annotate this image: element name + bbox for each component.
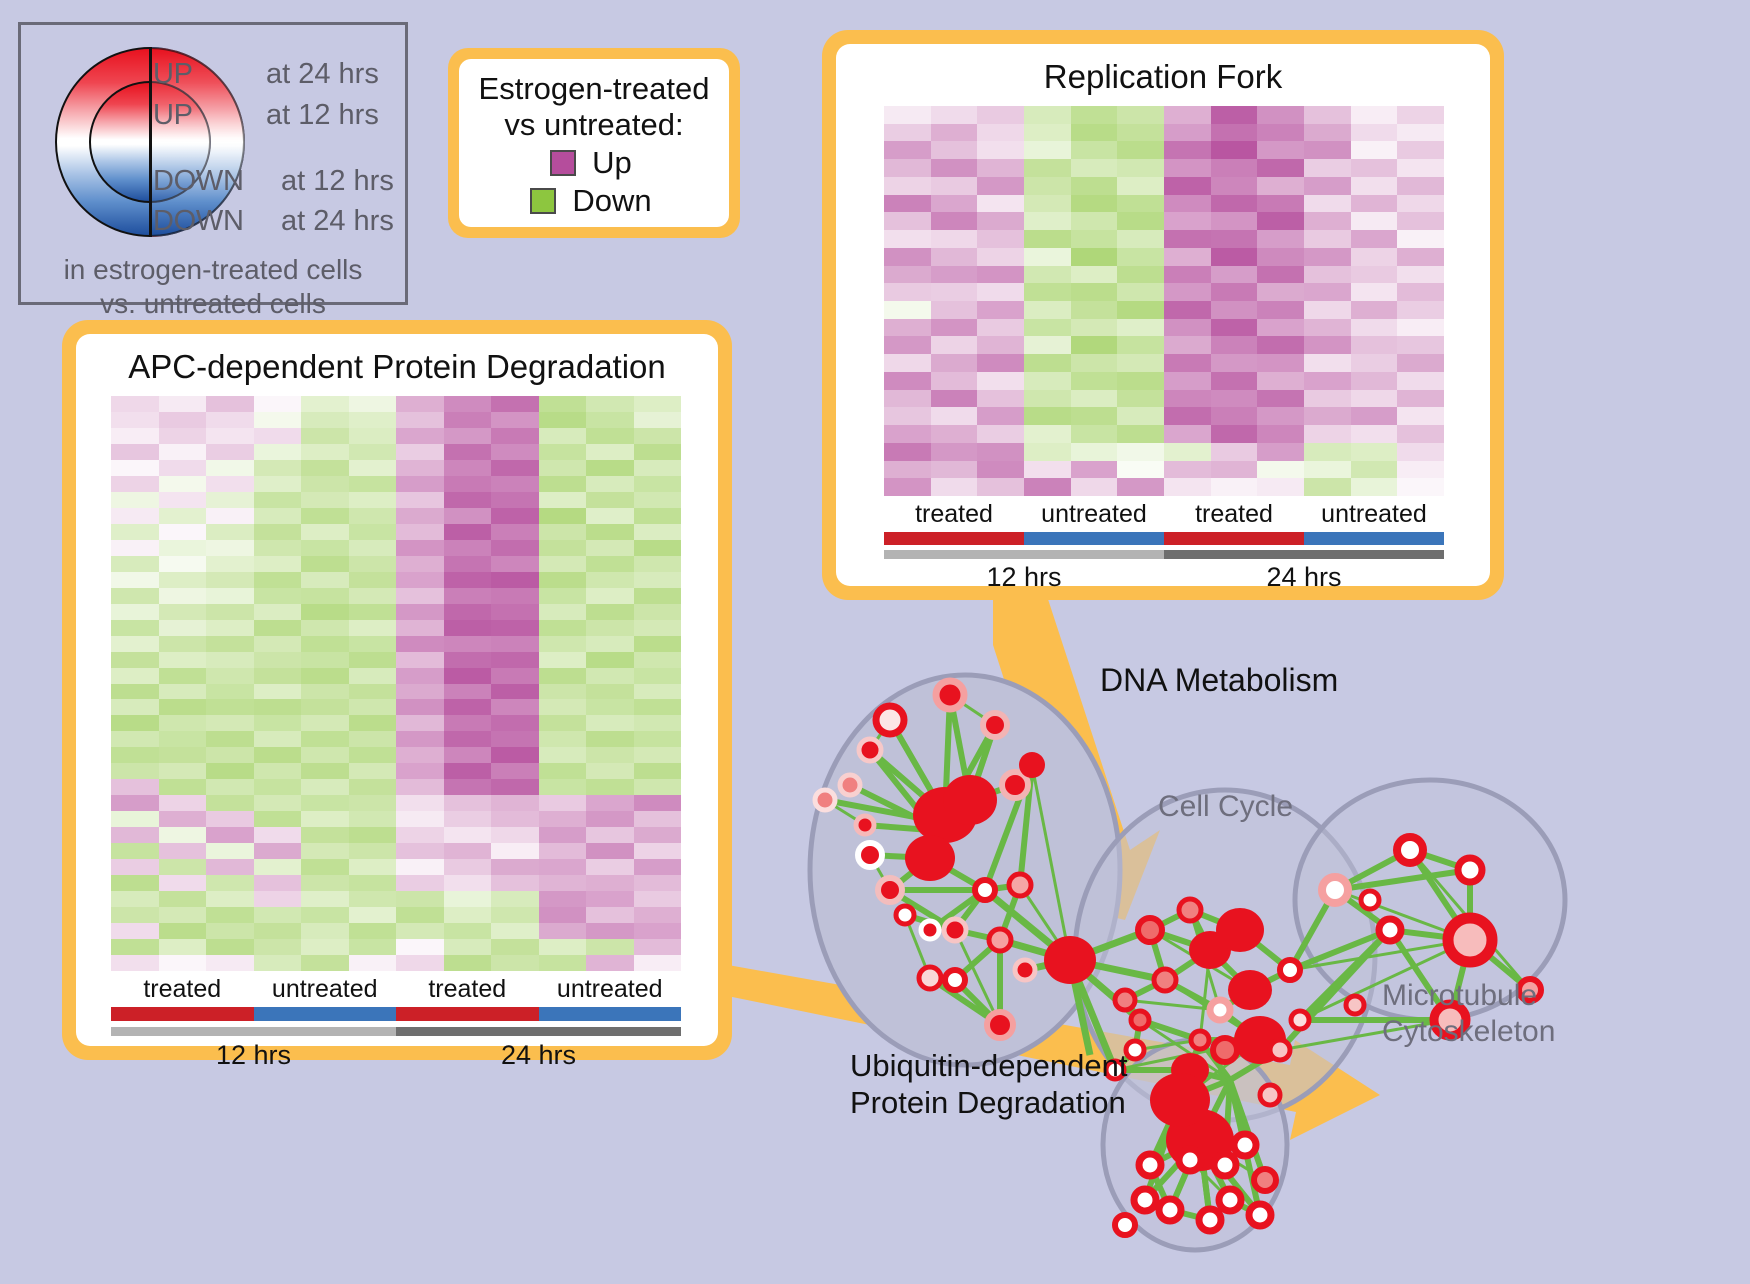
heatmap-cell — [977, 336, 1024, 354]
heatmap-cell — [254, 572, 302, 588]
heatmap-cell — [349, 827, 397, 843]
heatmap-cell — [1117, 230, 1164, 248]
heatmap-cell — [396, 556, 444, 572]
heatmap-cell — [1351, 461, 1398, 479]
heatmap-cell — [206, 715, 254, 731]
heatmap-cell — [111, 715, 159, 731]
heatmap-cell — [1304, 336, 1351, 354]
heatmap-cell — [491, 891, 539, 907]
heatmap-cell — [491, 684, 539, 700]
heatmap-cell — [111, 779, 159, 795]
heatmap-cell — [634, 604, 682, 620]
heatmap-cell — [977, 266, 1024, 284]
heatmap-cell — [1164, 283, 1211, 301]
heatmap-cell — [301, 891, 349, 907]
heatmap-cell — [539, 779, 587, 795]
heatmap-cell — [159, 923, 207, 939]
heatmap-cell — [931, 266, 978, 284]
heatmap-cell — [539, 731, 587, 747]
heatmap-cell — [1351, 248, 1398, 266]
heatmap-cell — [301, 540, 349, 556]
time-label: 24 hrs — [396, 1040, 681, 1071]
heatmap-cell — [111, 795, 159, 811]
heatmap-cell — [586, 412, 634, 428]
heatmap-cell — [491, 907, 539, 923]
heatmap-cell — [1117, 443, 1164, 461]
heatmap-cell — [634, 556, 682, 572]
heatmap-cell — [444, 636, 492, 652]
time-bars-replication-fork — [884, 550, 1444, 559]
heatmap-cell — [301, 907, 349, 923]
heatmap-cell — [254, 652, 302, 668]
heatmap-cell — [977, 230, 1024, 248]
heatmap-cell — [586, 795, 634, 811]
heatmap-cell — [1351, 372, 1398, 390]
heatmap-cell — [491, 939, 539, 955]
heatmap-cell — [1397, 266, 1444, 284]
heatmap-cell — [396, 715, 444, 731]
heatmap-cell — [349, 843, 397, 859]
heatmap-cell — [111, 524, 159, 540]
heatmap-cell — [159, 747, 207, 763]
heatmap-cell — [254, 684, 302, 700]
heatmap-cell — [111, 875, 159, 891]
legend-item-down: Down — [530, 183, 651, 219]
heatmap-cell — [206, 699, 254, 715]
heatmap-cell — [301, 396, 349, 412]
down-colour-swatch — [530, 188, 556, 214]
time-label: 12 hrs — [111, 1040, 396, 1071]
heatmap-cell — [931, 248, 978, 266]
heatmap-cell — [444, 939, 492, 955]
heatmap-cell — [396, 652, 444, 668]
heatmap-cell — [254, 891, 302, 907]
heatmap-cell — [206, 588, 254, 604]
heatmap-cell — [586, 588, 634, 604]
heatmap-cell — [539, 620, 587, 636]
heatmap-cell — [634, 907, 682, 923]
heatmap-cell — [1164, 407, 1211, 425]
group-label: treated — [884, 500, 1024, 529]
heatmap-cell — [1071, 230, 1118, 248]
heatmap-cell — [254, 811, 302, 827]
heatmap-cell — [1024, 177, 1071, 195]
heatmap-cell — [444, 955, 492, 971]
heatmap-cell — [586, 699, 634, 715]
heatmap-cell — [1304, 443, 1351, 461]
heatmap-cell — [206, 763, 254, 779]
heatmap-cell — [539, 811, 587, 827]
heatmap-cell — [254, 492, 302, 508]
heatmap-cell — [206, 460, 254, 476]
heatmap-cell — [977, 212, 1024, 230]
heatmap-cell — [1257, 124, 1304, 142]
heatmap-cell — [349, 715, 397, 731]
heatmap-cell — [396, 699, 444, 715]
heatmap-cell — [539, 652, 587, 668]
heatmap-cell — [206, 524, 254, 540]
heatmap-cell — [1117, 159, 1164, 177]
heatmap-cell — [1211, 177, 1258, 195]
heatmap-cell — [1164, 319, 1211, 337]
heatmap-cell — [977, 425, 1024, 443]
heatmap-cell — [634, 859, 682, 875]
heatmap-cell — [349, 604, 397, 620]
heatmap-cell — [977, 124, 1024, 142]
treatment-bar-segment — [1024, 532, 1164, 545]
heatmap-cell — [977, 354, 1024, 372]
heatmap-cell — [444, 684, 492, 700]
heatmap-cell — [159, 476, 207, 492]
heatmap-cell — [586, 540, 634, 556]
heatmap-cell — [1164, 372, 1211, 390]
heatmap-cell — [931, 443, 978, 461]
heatmap-cell — [586, 396, 634, 412]
heatmap-cell — [159, 811, 207, 827]
updown-legend-card: Estrogen-treated vs untreated: Up Down — [448, 48, 740, 238]
heatmap-cell — [539, 827, 587, 843]
heatmap-cell — [1397, 124, 1444, 142]
heatmap-cell — [1117, 141, 1164, 159]
heatmap-cell — [634, 955, 682, 971]
heatmap-cell — [396, 731, 444, 747]
heatmap-cell — [931, 124, 978, 142]
heatmap-cell — [206, 811, 254, 827]
heatmap-cell — [1117, 248, 1164, 266]
heatmap-cell — [931, 195, 978, 213]
heatmap-cell — [1304, 461, 1351, 479]
legend-label-down: Down — [572, 183, 651, 219]
heatmap-cell — [206, 652, 254, 668]
heatmap-cell — [111, 476, 159, 492]
heatmap-cell — [491, 763, 539, 779]
heatmap-cell — [159, 428, 207, 444]
heatmap-cell — [539, 412, 587, 428]
heatmap-cell — [206, 636, 254, 652]
heatmap-cell — [884, 266, 931, 284]
heatmap-cell — [1257, 443, 1304, 461]
heatmap-cell — [1164, 124, 1211, 142]
heatmap-cell — [349, 923, 397, 939]
heatmap-cell — [254, 731, 302, 747]
heatmap-cell — [111, 827, 159, 843]
heatmap-cell — [111, 939, 159, 955]
heatmap-cell — [159, 907, 207, 923]
heatmap-cell — [254, 779, 302, 795]
wheel-caption-line2: vs. untreated cells — [21, 287, 405, 321]
heatmap-cell — [491, 811, 539, 827]
heatmap-cell — [444, 923, 492, 939]
heatmap-cell — [1024, 478, 1071, 496]
treatment-bar-segment — [396, 1007, 539, 1021]
heatmap-cell — [1024, 141, 1071, 159]
heatmap-cell — [977, 141, 1024, 159]
heatmap-cell — [634, 508, 682, 524]
heatmap-cell — [491, 747, 539, 763]
time-bar-segment — [1164, 550, 1444, 559]
heatmap-cell — [977, 443, 1024, 461]
heatmap-cell — [254, 843, 302, 859]
heatmap-cell — [301, 779, 349, 795]
heatmap-cell — [1351, 390, 1398, 408]
heatmap-cell — [1397, 248, 1444, 266]
heatmap-cell — [254, 476, 302, 492]
heatmap-cell — [349, 795, 397, 811]
heatmap-cell — [396, 795, 444, 811]
heatmap-cell — [349, 699, 397, 715]
heatmap-cell — [977, 390, 1024, 408]
heatmap-cell — [491, 396, 539, 412]
legend-item-up: Up — [550, 145, 632, 181]
heatmap-cell — [1304, 230, 1351, 248]
heatmap-cell — [1024, 159, 1071, 177]
heatmap-cell — [1164, 478, 1211, 496]
heatmap-cell — [1024, 106, 1071, 124]
heatmap-cell — [539, 508, 587, 524]
heatmap-cell — [301, 460, 349, 476]
heatmap-cell — [1164, 425, 1211, 443]
heatmap-cell — [491, 668, 539, 684]
heatmap-cell — [1351, 319, 1398, 337]
treatment-bars-replication-fork — [884, 532, 1444, 545]
heatmap-cell — [444, 859, 492, 875]
heatmap-cell — [1397, 177, 1444, 195]
heatmap-cell — [159, 524, 207, 540]
heatmap-cell — [634, 715, 682, 731]
heatmap-cell — [254, 556, 302, 572]
heatmap-cell — [444, 396, 492, 412]
heatmap-cell — [539, 460, 587, 476]
heatmap-cell — [1024, 319, 1071, 337]
heatmap-cell — [1397, 372, 1444, 390]
heatmap-cell — [1164, 336, 1211, 354]
heatmap-cell — [396, 620, 444, 636]
heatmap-cell — [884, 372, 931, 390]
heatmap-cell — [349, 492, 397, 508]
heatmap-cell — [301, 715, 349, 731]
heatmap-cell — [491, 636, 539, 652]
heatmap-cell — [301, 604, 349, 620]
heatmap-cell — [159, 668, 207, 684]
heatmap-cell — [491, 955, 539, 971]
heatmap-cell — [1304, 407, 1351, 425]
heatmap-cell — [634, 492, 682, 508]
heatmap-cell — [159, 620, 207, 636]
heatmap-cell — [444, 604, 492, 620]
heatmap-cell — [396, 875, 444, 891]
heatmap-cell — [444, 476, 492, 492]
heatmap-cell — [1024, 425, 1071, 443]
heatmap-cell — [159, 652, 207, 668]
heatmap-cell — [444, 811, 492, 827]
time-bar-segment — [111, 1027, 396, 1036]
heatmap-cell — [586, 524, 634, 540]
heatmap-cell — [301, 652, 349, 668]
heatmap-cell — [1071, 319, 1118, 337]
heatmap-cell — [634, 779, 682, 795]
heatmap-cell — [1071, 478, 1118, 496]
heatmap-cell — [301, 859, 349, 875]
heatmap-cell — [111, 923, 159, 939]
heatmap-cell — [539, 524, 587, 540]
heatmap-cell — [1071, 407, 1118, 425]
heatmap-cell — [491, 652, 539, 668]
cluster-halo-dna-metabolism — [810, 675, 1120, 1065]
cluster-label-dna-metabolism: DNA Metabolism — [1100, 662, 1338, 699]
heatmap-cell — [1117, 319, 1164, 337]
heatmap-cell — [1117, 106, 1164, 124]
heatmap-cell — [491, 843, 539, 859]
heatmap-cell — [349, 859, 397, 875]
heatmap-cell — [1024, 372, 1071, 390]
heatmap-cell — [884, 407, 931, 425]
heatmap-cell — [884, 336, 931, 354]
heatmap-cell — [491, 572, 539, 588]
heatmap-cell — [491, 428, 539, 444]
heatmap-cell — [634, 396, 682, 412]
heatmap-cell — [444, 492, 492, 508]
heatmap-cell — [491, 859, 539, 875]
heatmap-cell — [159, 588, 207, 604]
heatmap-cell — [634, 652, 682, 668]
heatmap-cell — [586, 859, 634, 875]
heatmap-cell — [349, 939, 397, 955]
heatmap-cell — [206, 955, 254, 971]
heatmap-cell — [254, 524, 302, 540]
heatmap-cell — [1071, 425, 1118, 443]
heatmap-cell — [1397, 336, 1444, 354]
heatmap-cell — [1211, 141, 1258, 159]
heatmap-cell — [931, 283, 978, 301]
heatmap-cell — [1024, 230, 1071, 248]
heatmap-cell — [634, 620, 682, 636]
heatmap-cell — [1117, 372, 1164, 390]
heatmap-cell — [111, 891, 159, 907]
group-label: treated — [396, 975, 539, 1004]
heatmap-cell — [254, 939, 302, 955]
heatmap-cell — [931, 230, 978, 248]
heatmap-cell — [1117, 354, 1164, 372]
heatmap-cell — [1397, 283, 1444, 301]
heatmap-cell — [634, 827, 682, 843]
heatmap-cell — [254, 588, 302, 604]
heatmap-cell — [111, 428, 159, 444]
heatmap-cell — [884, 478, 931, 496]
heatmap-cell — [1071, 124, 1118, 142]
heatmap-cell — [931, 336, 978, 354]
heatmap-cell — [301, 875, 349, 891]
heatmap-cell — [444, 412, 492, 428]
heatmap-cell — [111, 668, 159, 684]
heatmap-cell — [931, 177, 978, 195]
heatmap-cell — [634, 731, 682, 747]
heatmap-cell — [1071, 461, 1118, 479]
heatmap-cell — [977, 461, 1024, 479]
heatmap-replication-fork — [884, 106, 1444, 496]
heatmap-cell — [349, 731, 397, 747]
heatmap-cell — [396, 476, 444, 492]
heatmap-cell — [586, 620, 634, 636]
heatmap-cell — [111, 763, 159, 779]
heatmap-cell — [254, 428, 302, 444]
heatmap-cell — [1024, 354, 1071, 372]
heatmap-cell — [539, 795, 587, 811]
heatmap-cell — [159, 604, 207, 620]
heatmap-cell — [634, 843, 682, 859]
heatmap-cell — [1211, 336, 1258, 354]
heatmap-cell — [1304, 319, 1351, 337]
group-label: untreated — [1304, 500, 1444, 529]
heatmap-cell — [349, 747, 397, 763]
heatmap-cell — [1304, 478, 1351, 496]
heatmap-cell — [301, 811, 349, 827]
heatmap-cell — [206, 412, 254, 428]
heatmap-cell — [1304, 141, 1351, 159]
heatmap-cell — [301, 428, 349, 444]
heatmap-cell — [634, 923, 682, 939]
heatmap-cell — [444, 620, 492, 636]
heatmap-cell — [1211, 212, 1258, 230]
heatmap-cell — [586, 636, 634, 652]
heatmap-cell — [301, 412, 349, 428]
heatmap-cell — [396, 492, 444, 508]
heatmap-cell — [634, 428, 682, 444]
heatmap-cell — [931, 478, 978, 496]
wheel-divider — [149, 47, 152, 237]
heatmap-cell — [884, 461, 931, 479]
wheel-time-up-12: at 12 hrs — [266, 99, 379, 132]
heatmap-cell — [539, 636, 587, 652]
heatmap-cell — [444, 444, 492, 460]
heatmap-cell — [1304, 354, 1351, 372]
time-label: 24 hrs — [1164, 562, 1444, 593]
heatmap-cell — [586, 763, 634, 779]
heatmap-cell — [1164, 141, 1211, 159]
heatmap-cell — [349, 444, 397, 460]
heatmap-cell — [111, 699, 159, 715]
heatmap-cell — [977, 159, 1024, 177]
heatmap-cell — [491, 460, 539, 476]
heatmap-cell — [1164, 177, 1211, 195]
heatmap-cell — [396, 891, 444, 907]
heatmap-cell — [301, 795, 349, 811]
heatmap-cell — [1071, 372, 1118, 390]
heatmap-cell — [1071, 443, 1118, 461]
heatmap-cell — [111, 396, 159, 412]
heatmap-cell — [977, 301, 1024, 319]
heatmap-cell — [586, 875, 634, 891]
heatmap-cell — [491, 492, 539, 508]
heatmap-cell — [206, 939, 254, 955]
heatmap-cell — [931, 141, 978, 159]
heatmap-cell — [586, 923, 634, 939]
heatmap-cell — [396, 827, 444, 843]
heatmap-cell — [254, 699, 302, 715]
treatment-bar-segment — [884, 532, 1024, 545]
heatmap-cell — [349, 620, 397, 636]
heatmap-cell — [931, 159, 978, 177]
network-svg — [770, 600, 1750, 1279]
heatmap-cell — [539, 859, 587, 875]
heatmap-cell — [1164, 248, 1211, 266]
heatmap-cell — [349, 508, 397, 524]
heatmap-cell — [444, 715, 492, 731]
heatmap-cell — [1351, 425, 1398, 443]
heatmap-cell — [491, 779, 539, 795]
heatmap-cell — [1117, 177, 1164, 195]
heatmap-cell — [1024, 390, 1071, 408]
heatmap-cell — [586, 428, 634, 444]
